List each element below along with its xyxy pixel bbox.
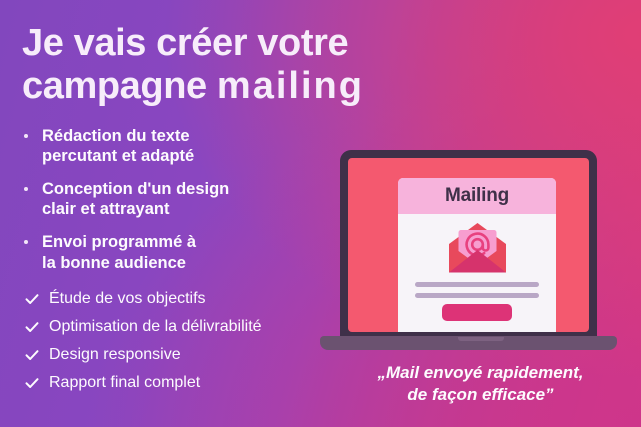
quote-line-2: de façon efficace” <box>320 384 641 406</box>
checklist-label: Design responsive <box>49 346 181 363</box>
tagline-quote: „Mail envoyé rapidement, de façon effica… <box>320 362 641 406</box>
envelope-at-icon <box>448 222 507 274</box>
headline-word-mailing: mailing <box>217 65 364 107</box>
list-item: Optimisation de la délivrabilité <box>22 317 322 336</box>
page-title: Je vais créer votre campagne mailing <box>22 22 322 108</box>
mailing-card-body <box>398 214 556 321</box>
placeholder-line <box>415 293 539 298</box>
bullet-text-line-1: Conception d'un design <box>42 179 322 199</box>
mailing-card-title: Mailing <box>445 185 509 207</box>
bullet-text-line-2: percutant et adapté <box>42 146 322 166</box>
list-item: Design responsive <box>22 345 322 364</box>
bullet-dot-icon <box>24 240 28 244</box>
list-item: Rédaction du texte percutant et adapté <box>22 126 322 166</box>
list-item: Étude de vos objectifs <box>22 289 322 308</box>
placeholder-text-lines <box>415 282 539 298</box>
list-item: Conception d'un design clair et attrayan… <box>22 179 322 219</box>
feature-bullet-list: Rédaction du texte percutant et adapté C… <box>22 126 322 273</box>
headline-line-2: campagne mailing <box>22 65 322 108</box>
list-item: Envoi programmé à la bonne audience <box>22 232 322 272</box>
mailing-card: Mailing <box>398 178 556 332</box>
mailing-card-header: Mailing <box>398 178 556 214</box>
bullet-text-line-2: clair et attrayant <box>42 199 322 219</box>
headline-line-1: Je vais créer votre <box>22 22 348 64</box>
laptop-trackpad-notch <box>458 337 504 341</box>
checklist: Étude de vos objectifs Optimisation de l… <box>22 289 322 393</box>
placeholder-line <box>415 282 539 287</box>
mailing-card-button[interactable] <box>442 304 512 321</box>
bullet-text-line-1: Rédaction du texte <box>42 126 322 146</box>
check-icon <box>24 375 40 391</box>
checklist-label: Étude de vos objectifs <box>49 290 206 307</box>
bullet-dot-icon <box>24 187 28 191</box>
laptop-screen-bezel: Mailing <box>340 150 597 340</box>
text-column: Je vais créer votre campagne mailing Réd… <box>22 22 322 401</box>
checklist-label: Rapport final complet <box>49 374 200 391</box>
headline-word-campagne: campagne <box>22 65 217 107</box>
laptop-mailing-illustration: Mailing <box>320 138 641 378</box>
check-icon <box>24 347 40 363</box>
list-item: Rapport final complet <box>22 373 322 392</box>
bullet-dot-icon <box>24 134 28 138</box>
quote-line-1: „Mail envoyé rapidement, <box>320 362 641 384</box>
laptop-screen: Mailing <box>348 158 589 332</box>
check-icon <box>24 291 40 307</box>
bullet-text-line-1: Envoi programmé à <box>42 232 322 252</box>
checklist-label: Optimisation de la délivrabilité <box>49 318 262 335</box>
promo-poster: Je vais créer votre campagne mailing Réd… <box>0 0 641 427</box>
check-icon <box>24 319 40 335</box>
bullet-text-line-2: la bonne audience <box>42 253 322 273</box>
